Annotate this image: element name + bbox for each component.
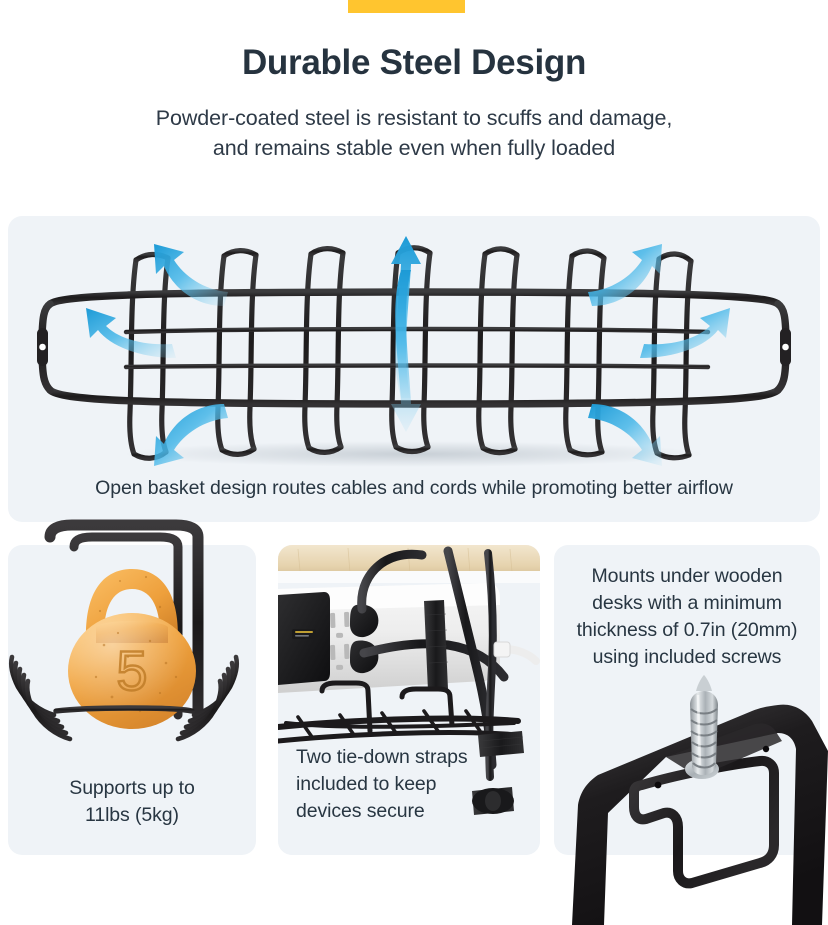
feature-panel-weight-capacity: 5 Su	[8, 545, 256, 855]
caption-line-3: devices secure	[296, 798, 558, 825]
hero-product-stage	[8, 222, 820, 472]
caption-line-2: 11lbs (5kg)	[8, 802, 256, 829]
kettlebell-on-tray-photo: 5	[0, 515, 264, 765]
header: Durable Steel Design Powder-coated steel…	[0, 44, 828, 164]
subtitle-line-2: and remains stable even when fully loade…	[0, 133, 828, 164]
infographic-page: Durable Steel Design Powder-coated steel…	[0, 0, 828, 900]
mounting-screw	[690, 675, 718, 775]
mount-bracket-left	[37, 328, 48, 366]
page-subtitle: Powder-coated steel is resistant to scuf…	[0, 103, 828, 164]
tray-inner-strut	[634, 761, 774, 884]
feature-caption-tie-down-straps: Two tie-down straps included to keep dev…	[278, 744, 558, 825]
kettlebell-weight-label: 5	[116, 639, 147, 702]
screw-mount-detail-photo	[546, 665, 828, 925]
caption-line-1: Two tie-down straps	[296, 744, 558, 771]
tie-down-strap-1	[424, 600, 448, 691]
hero-panel: Open basket design routes cables and cor…	[8, 216, 820, 522]
caption-line-1: Mounts under wooden	[564, 563, 810, 590]
feature-panel-tie-down-straps: Two tie-down straps included to keep dev…	[278, 545, 540, 855]
caption-line-1: Supports up to	[8, 775, 256, 802]
caption-line-2: desks with a minimum	[564, 590, 810, 617]
airflow-arrows	[86, 236, 730, 466]
caption-line-2: included to keep	[296, 771, 558, 798]
accent-bar	[348, 0, 465, 13]
feature-caption-desk-mounting: Mounts under wooden desks with a minimum…	[554, 563, 820, 671]
subtitle-line-1: Powder-coated steel is resistant to scuf…	[0, 103, 828, 134]
mount-bracket-right	[780, 328, 791, 366]
wire-basket-illustration	[8, 222, 820, 472]
feature-panel-desk-mounting: Mounts under wooden desks with a minimum…	[554, 545, 820, 855]
caption-line-3: thickness of 0.7in (20mm)	[564, 617, 810, 644]
page-title: Durable Steel Design	[0, 44, 828, 83]
feature-caption-weight-capacity: Supports up to 11lbs (5kg)	[8, 775, 256, 829]
hero-caption: Open basket design routes cables and cor…	[8, 477, 820, 500]
